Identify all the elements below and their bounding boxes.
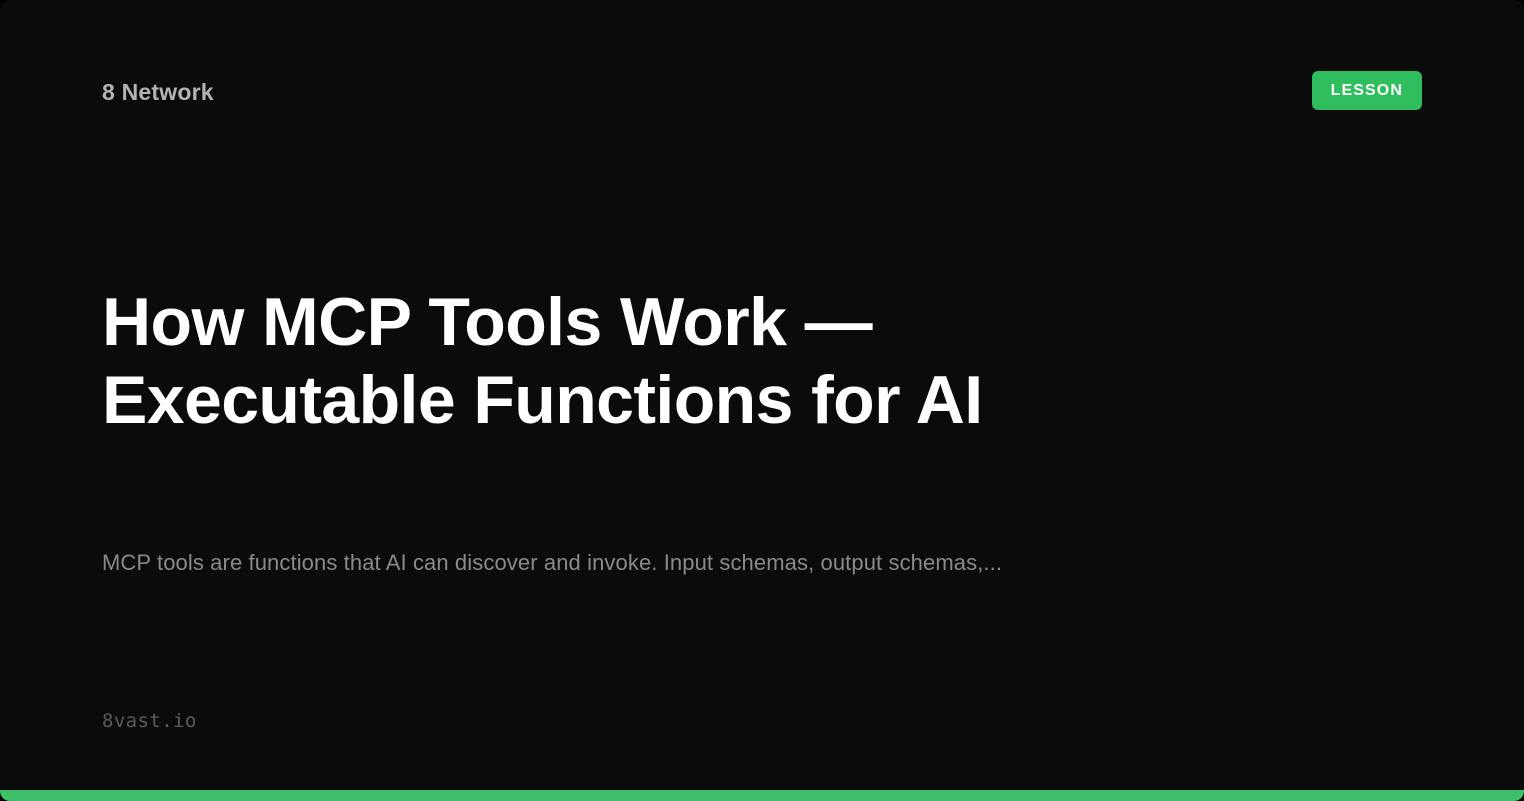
brand-title: 8 Network	[102, 71, 214, 104]
footer-url: 8vast.io	[102, 712, 197, 771]
page-title: How MCP Tools Work — Executable Function…	[102, 283, 1222, 439]
page-subtitle: MCP tools are functions that AI can disc…	[102, 439, 1202, 579]
status-badge: LESSON	[1312, 71, 1422, 110]
lesson-slide: 8 Network LESSON How MCP Tools Work — Ex…	[0, 0, 1524, 801]
slide-body: How MCP Tools Work — Executable Function…	[0, 180, 1524, 681]
slide-footer: 8vast.io	[0, 681, 1524, 801]
slide-header: 8 Network LESSON	[0, 0, 1524, 180]
accent-bar	[0, 790, 1524, 801]
